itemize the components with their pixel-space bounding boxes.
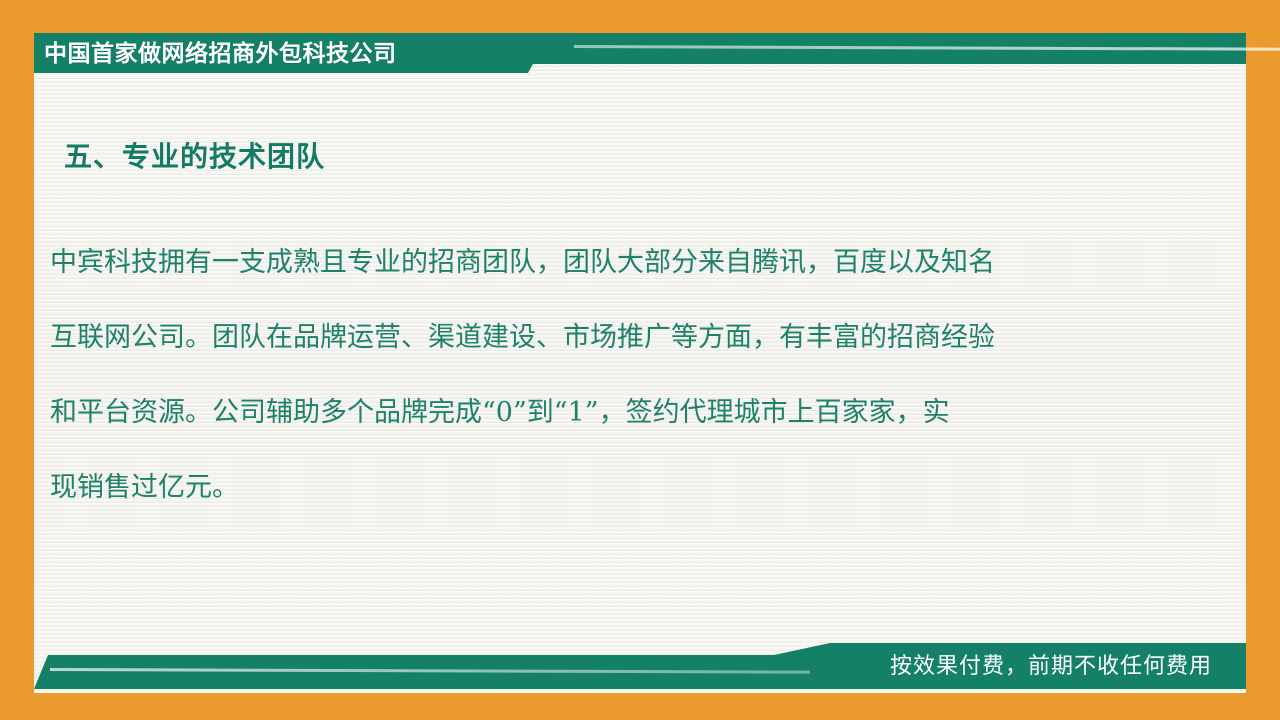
frame-border-top <box>0 0 1280 33</box>
slide-content: 五、专业的技术团队 中宾科技拥有一支成熟且专业的招商团队，团队大部分来自腾讯，百… <box>34 100 1246 620</box>
footer-banner: 按效果付费，前期不收任何费用 <box>34 643 1246 693</box>
footer-slogan: 按效果付费，前期不收任何费用 <box>890 650 1212 682</box>
body-paragraph: 中宾科技拥有一支成熟且专业的招商团队，团队大部分来自腾讯，百度以及知名 互联网公… <box>50 225 1190 525</box>
slide-root: 中国首家做网络招商外包科技公司 五、专业的技术团队 中宾科技拥有一支成熟且专业的… <box>0 0 1280 720</box>
frame-border-bottom <box>0 693 1280 720</box>
header-accent-band <box>532 33 1246 73</box>
frame-border-left <box>0 0 34 720</box>
paragraph-line: 现销售过亿元。 <box>50 450 1190 525</box>
header-banner: 中国首家做网络招商外包科技公司 <box>34 33 1246 75</box>
frame-border-right <box>1246 0 1280 720</box>
header-title: 中国首家做网络招商外包科技公司 <box>44 36 397 70</box>
paragraph-line: 中宾科技拥有一支成熟且专业的招商团队，团队大部分来自腾讯，百度以及知名 <box>50 225 1190 300</box>
section-heading: 五、专业的技术团队 <box>64 135 325 175</box>
paragraph-line: 和平台资源。公司辅助多个品牌完成“0”到“1”，签约代理城市上百家家，实 <box>50 375 1190 450</box>
paragraph-line: 互联网公司。团队在品牌运营、渠道建设、市场推广等方面，有丰富的招商经验 <box>50 300 1190 375</box>
